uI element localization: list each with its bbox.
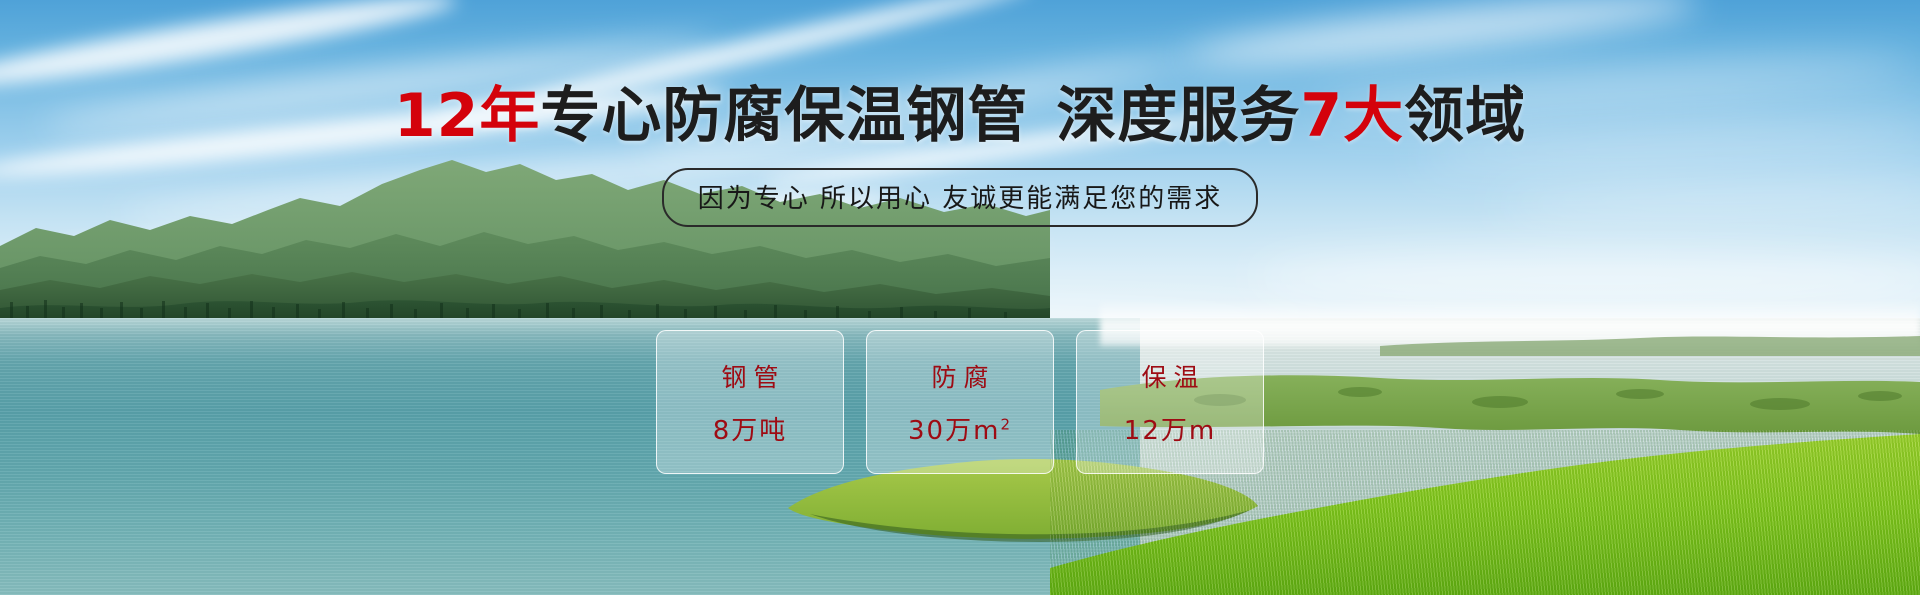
- stat-card-number: 12万m: [1124, 416, 1216, 446]
- cloud-wisp: [1179, 0, 1700, 77]
- stat-card-superscript: 2: [1000, 415, 1012, 433]
- headline-main: 专心防腐保温钢管: [540, 81, 1028, 151]
- stat-card[interactable]: 钢管 8万吨: [656, 330, 844, 474]
- headline-service: 深度服务: [1056, 81, 1300, 151]
- stat-card-title: 保温: [1134, 358, 1205, 394]
- headline-fields: 领域: [1404, 81, 1526, 151]
- stat-card-value: 8万吨: [713, 410, 788, 447]
- stat-card-number: 8万吨: [713, 416, 788, 446]
- subtitle-wrapper: 因为专心 所以用心 友诚更能满足您的需求: [0, 168, 1920, 227]
- headline: 12年专心防腐保温钢管深度服务7大领域: [0, 86, 1920, 146]
- headline-years: 12年: [394, 81, 541, 151]
- stat-card-value: 12万m: [1124, 410, 1216, 447]
- stat-card[interactable]: 防腐 30万m2: [866, 330, 1054, 474]
- headline-fields-count: 7大: [1300, 81, 1404, 151]
- stat-card-title: 钢管: [714, 358, 785, 394]
- stat-card[interactable]: 保温 12万m: [1076, 330, 1264, 474]
- stat-card-number: 30万m: [908, 416, 1000, 446]
- stat-card-group: 钢管 8万吨 防腐 30万m2 保温 12万m: [0, 330, 1920, 474]
- stat-card-value: 30万m2: [908, 410, 1012, 447]
- stat-card-title: 防腐: [924, 358, 995, 394]
- subtitle-pill: 因为专心 所以用心 友诚更能满足您的需求: [662, 168, 1259, 227]
- hero-banner: 12年专心防腐保温钢管深度服务7大领域 因为专心 所以用心 友诚更能满足您的需求…: [0, 0, 1920, 595]
